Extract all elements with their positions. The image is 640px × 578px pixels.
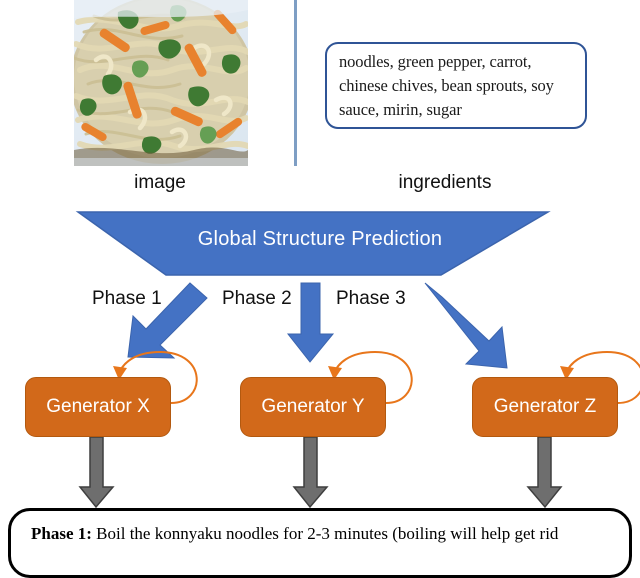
generator-y-label: Generator Y (261, 396, 364, 418)
figure-canvas: noodles, green pepper, carrot, chinese c… (0, 0, 640, 542)
output-phase-body: Boil the konnyaku noodles for 2-3 minute… (92, 524, 559, 543)
output-recipe-box: Phase 1: Boil the konnyaku noodles for 2… (8, 508, 632, 578)
connector-arrows (0, 0, 640, 542)
generator-y-box[interactable]: Generator Y (240, 377, 386, 437)
phase-3-arrow (425, 283, 507, 368)
generator-z-box[interactable]: Generator Z (472, 377, 618, 437)
output-phase-label: Phase 1: (31, 524, 92, 543)
generator-x-label: Generator X (46, 396, 150, 418)
phase-1-arrow (128, 283, 207, 358)
generator-x-box[interactable]: Generator X (25, 377, 171, 437)
phase-2-arrow (288, 283, 333, 362)
generator-z-label: Generator Z (494, 396, 596, 418)
generator-output-arrows (80, 437, 561, 507)
